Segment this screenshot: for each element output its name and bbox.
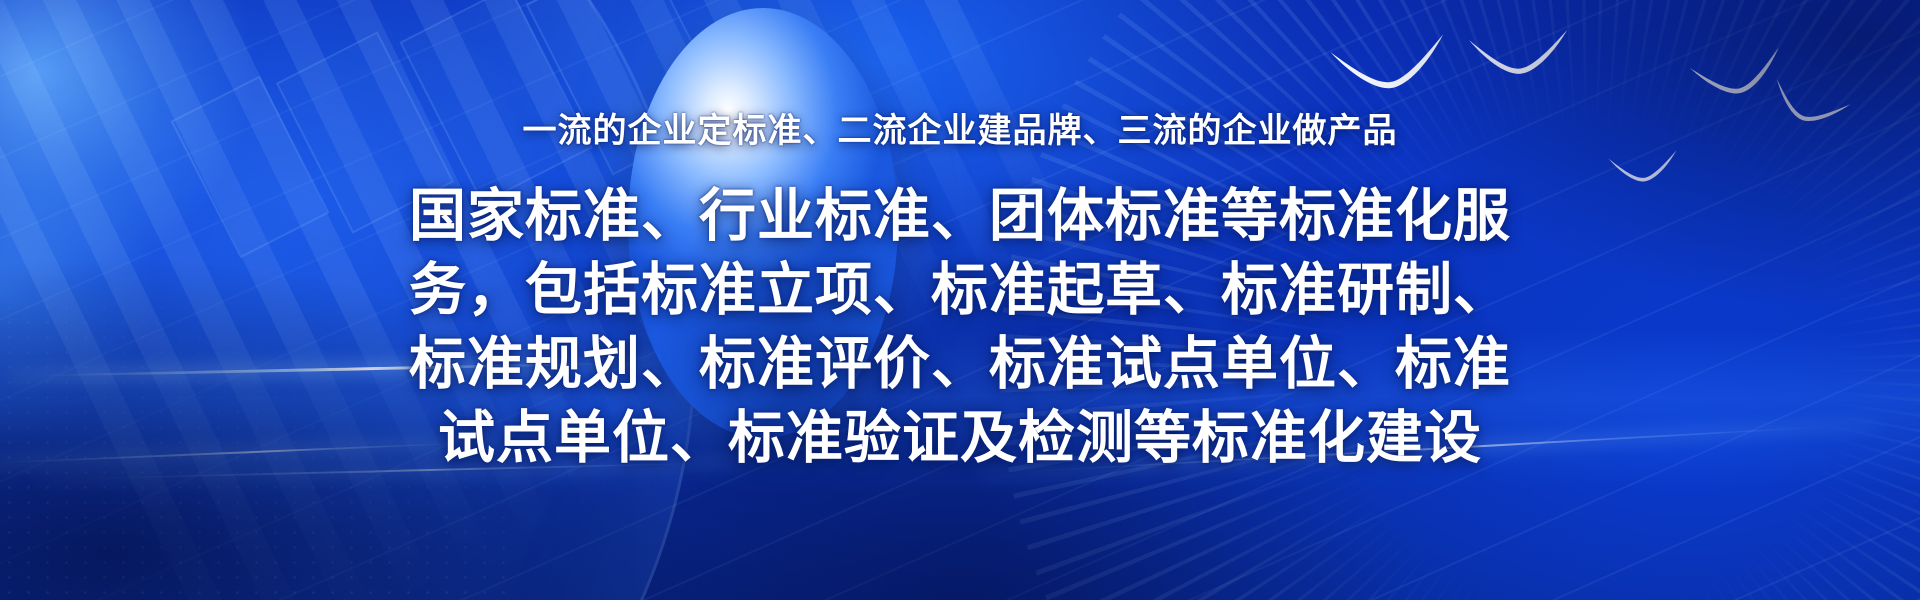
banner-tagline: 一流的企业定标准、二流企业建品牌、三流的企业做产品	[523, 112, 1398, 151]
banner-content: 一流的企业定标准、二流企业建品牌、三流的企业做产品 国家标准、行业标准、团体标准…	[0, 0, 1920, 600]
headline-line-2: 务，包括标准立项、标准起草、标准研制、	[310, 253, 1610, 327]
headline-line-4: 试点单位、标准验证及检测等标准化建设	[310, 401, 1610, 475]
headline-line-3: 标准规划、标准评价、标准试点单位、标准	[310, 327, 1610, 401]
banner-headline: 国家标准、行业标准、团体标准等标准化服 务，包括标准立项、标准起草、标准研制、 …	[310, 179, 1610, 475]
promo-banner: 一流的企业定标准、二流企业建品牌、三流的企业做产品 国家标准、行业标准、团体标准…	[0, 0, 1920, 600]
headline-line-1: 国家标准、行业标准、团体标准等标准化服	[310, 179, 1610, 253]
